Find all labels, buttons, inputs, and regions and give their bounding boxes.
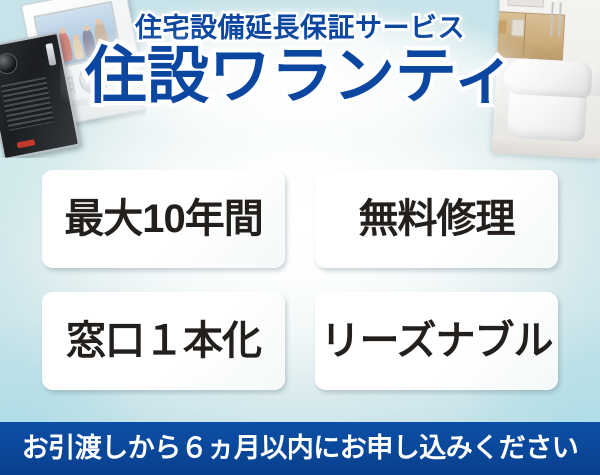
service-title: 住設ワランティ — [0, 44, 600, 109]
feature-box-duration[interactable]: 最大10年間 — [42, 170, 285, 268]
feature-label: 最大10年間 — [64, 199, 263, 239]
application-deadline-text: お引渡しから６ヵ月以内にお申し込みください — [22, 435, 579, 462]
feature-box-free-repair[interactable]: 無料修理 — [315, 170, 558, 268]
feature-box-single-contact[interactable]: 窓口１本化 — [42, 292, 285, 390]
feature-label: リーズナブル — [321, 321, 553, 361]
feature-label: 無料修理 — [359, 199, 515, 239]
service-subtitle: 住宅設備延長保証サービス — [0, 14, 600, 42]
feature-box-reasonable[interactable]: リーズナブル — [315, 292, 558, 390]
doorbell-button — [17, 139, 36, 148]
feature-grid: 最大10年間 無料修理 窓口１本化 リーズナブル — [42, 170, 558, 390]
headline-block: 住宅設備延長保証サービス 住設ワランティ — [0, 14, 600, 109]
application-deadline-bar[interactable]: お引渡しから６ヵ月以内にお申し込みください — [0, 422, 600, 475]
feature-label: 窓口１本化 — [66, 321, 261, 361]
warranty-promo-banner: 住宅設備延長保証サービス 住設ワランティ 最大10年間 無料修理 窓口１本化 リ… — [0, 0, 600, 475]
